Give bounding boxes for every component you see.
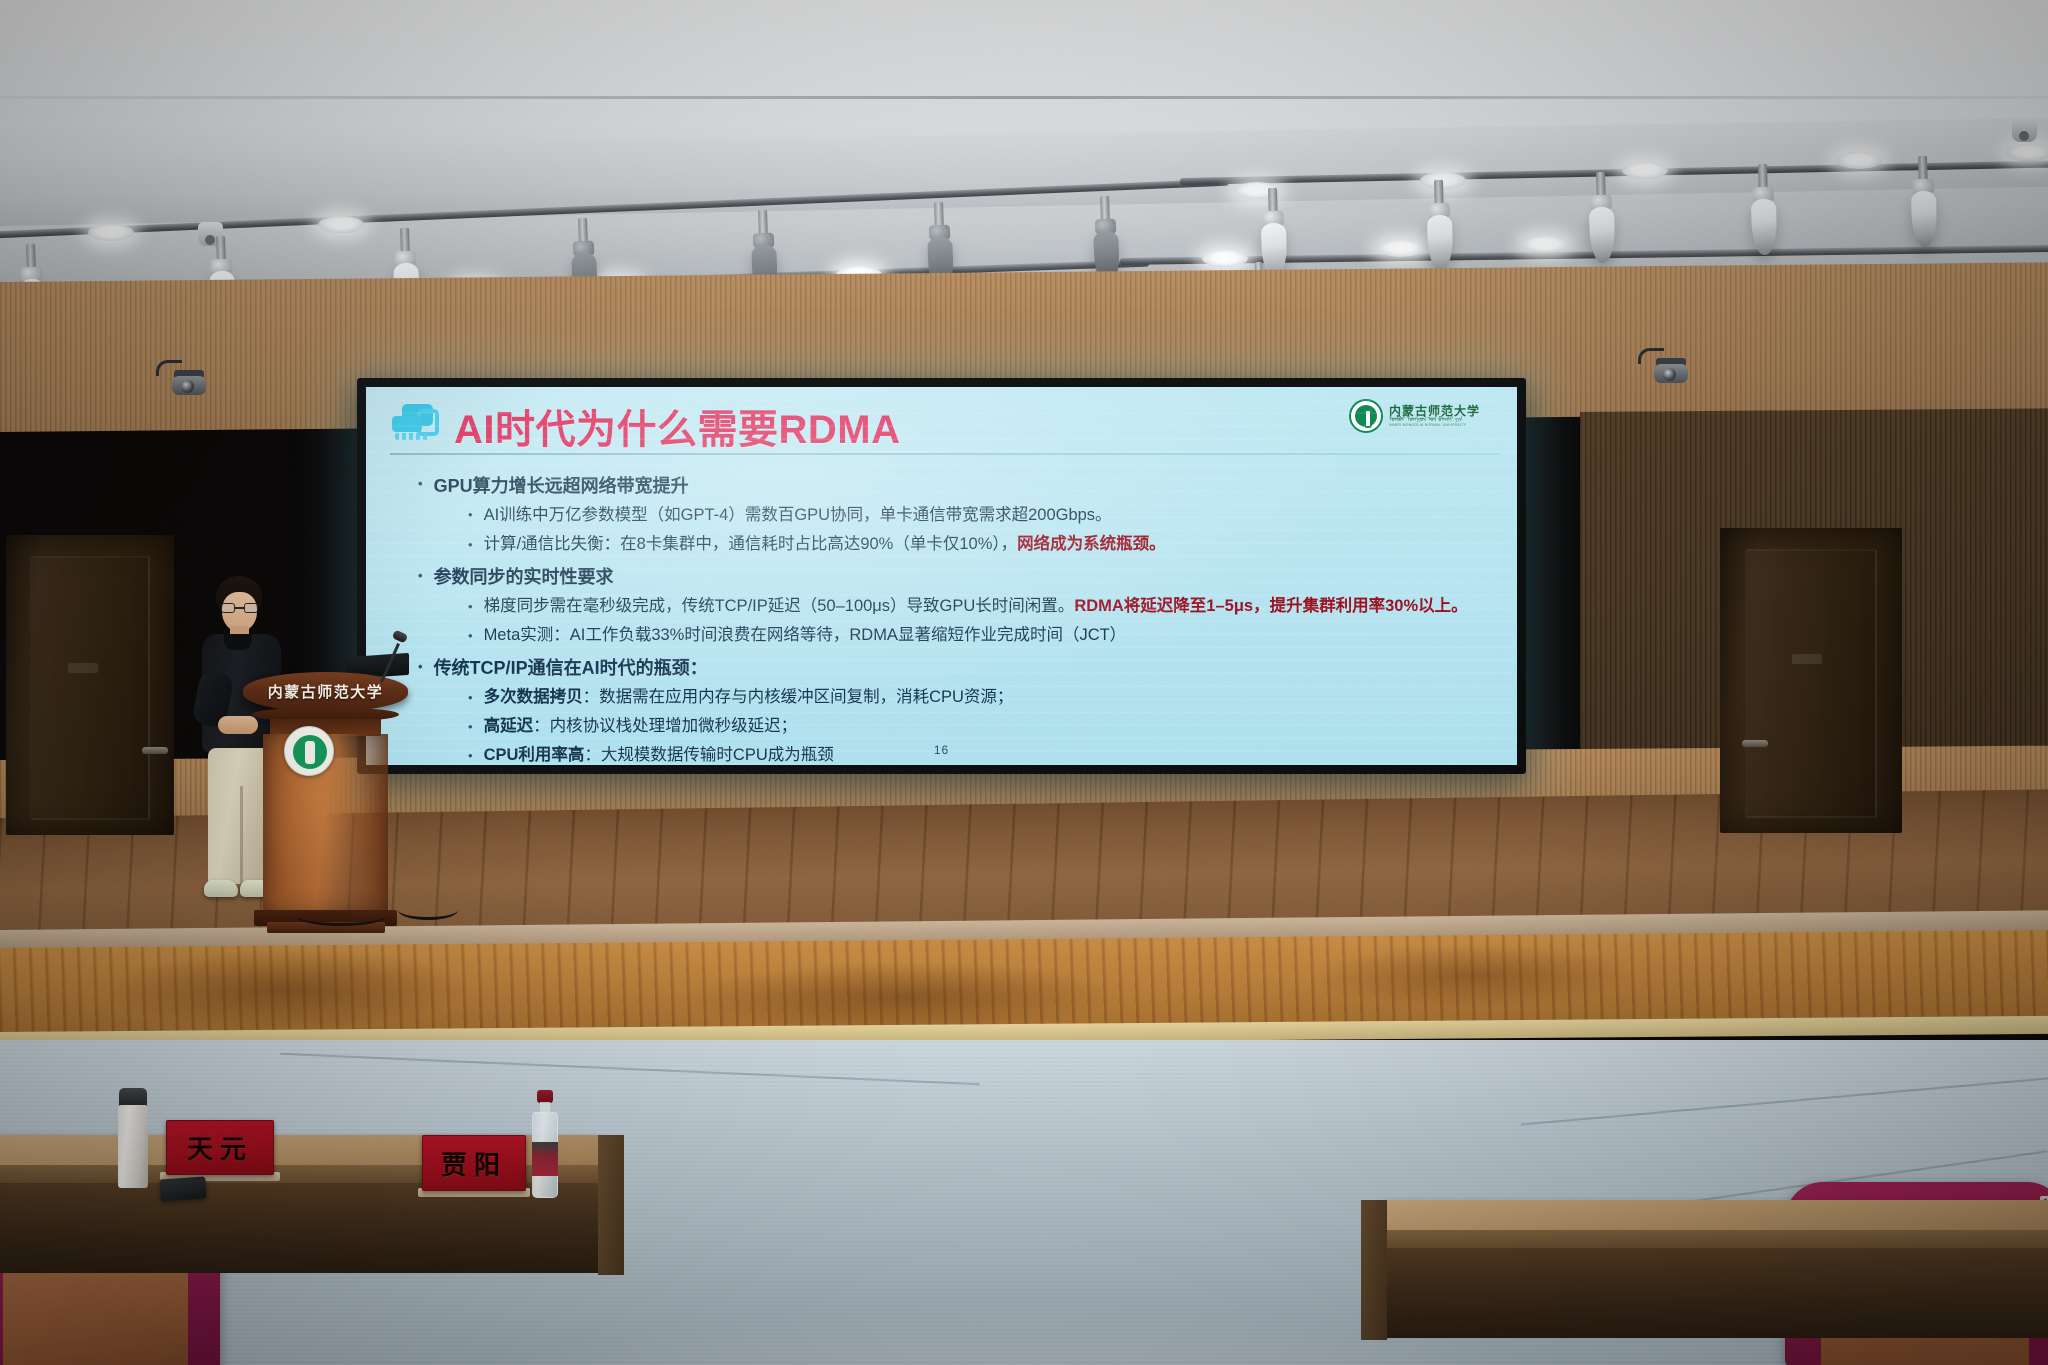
slide-bullet-item: •高延迟：内核协议栈处理增加微秒级延迟； [468, 714, 1495, 738]
bullet-dot-icon: • [468, 508, 473, 521]
slide-bullet-text: 多次数据拷贝：数据需在应用内存与内核缓冲区间复制，消耗CPU资源； [484, 685, 1014, 709]
slide-text-run: AI训练中万亿参数模型（如GPT-4）需数百GPU协同，单卡通信带宽需求超200… [484, 506, 1112, 524]
door-handle-icon[interactable] [142, 747, 168, 754]
ceiling-sensor-icon [2012, 118, 2037, 142]
slide-bullet-text: 计算/通信比失衡：在8卡集群中，通信耗时占比高达90%（单卡仅10%），网络成为… [484, 532, 1166, 556]
slide-bullet-item: •梯度同步需在毫秒级完成，传统TCP/IP延迟（50–100μs）导致GPU长时… [468, 594, 1495, 618]
slide-section-heading: •参数同步的实时性要求 [418, 563, 1495, 589]
slide-text-run: 多次数据拷贝 [484, 688, 583, 706]
downlight-icon [1522, 236, 1568, 253]
name-placard-right-text: 贾阳 [441, 1145, 507, 1182]
ptz-camera-icon [172, 370, 206, 400]
slide-bullet-text: 高延迟：内核协议栈处理增加微秒级延迟； [484, 714, 798, 738]
slide-text-run: 网络成为系统瓶颈。 [1017, 535, 1166, 553]
name-placard-left: 天元 [166, 1120, 274, 1175]
bullet-dot-icon: • [418, 660, 423, 673]
slide-section-heading: •GPU算力增长远超网络带宽提升 [418, 472, 1495, 498]
university-seal-icon [1349, 399, 1383, 433]
left-door[interactable] [6, 535, 174, 835]
name-placard-right: 贾阳 [422, 1135, 526, 1191]
podium-brand-text: 内蒙古师范大学 [243, 681, 408, 702]
downlight-icon [1378, 240, 1424, 257]
downlight-icon [88, 224, 134, 241]
name-placard-left-text: 天元 [187, 1129, 253, 1166]
bullet-dot-icon: • [418, 477, 423, 490]
slide-page-number: 16 [366, 743, 1517, 757]
slide-section-heading-text: 参数同步的实时性要求 [434, 563, 614, 589]
slide-bullet-item: •AI训练中万亿参数模型（如GPT-4）需数百GPU协同，单卡通信带宽需求超20… [468, 503, 1495, 527]
slide-bullet-item: •Meta实测：AI工作负载33%时间浪费在网络等待，RDMA显著缩短作业完成时… [468, 623, 1495, 647]
slide-section-heading-text: 传统TCP/IP通信在AI时代的瓶颈： [434, 654, 708, 680]
ceiling-seam [0, 96, 2048, 99]
presenter-collar [224, 634, 252, 650]
phone [159, 1176, 206, 1201]
bullet-dot-icon: • [468, 720, 473, 733]
bullet-dot-icon: • [468, 600, 473, 613]
thermos-bottle [118, 1088, 148, 1188]
slide-text-run: ：内核协议栈处理增加微秒级延迟； [533, 717, 797, 735]
right-door[interactable] [1720, 528, 1902, 833]
audience-desk-right [1385, 1200, 2048, 1340]
university-name-en: INNER MONGOLIA NORMAL UNIVERSITY [1389, 424, 1480, 428]
slide-text-run: RDMA将延迟降至1–5μs，提升集群利用率30%以上。 [1074, 597, 1467, 615]
bullet-dot-icon: • [468, 629, 473, 642]
slide-bullet-text: AI训练中万亿参数模型（如GPT-4）需数百GPU协同，单卡通信带宽需求超200… [484, 503, 1112, 527]
title-divider [390, 453, 1500, 455]
slide-bullet-item: •计算/通信比失衡：在8卡集群中，通信耗时占比高达90%（单卡仅10%），网络成… [468, 532, 1495, 556]
slide-bullet-item: •多次数据拷贝：数据需在应用内存与内核缓冲区间复制，消耗CPU资源； [468, 685, 1495, 709]
ptz-camera-icon [1654, 358, 1688, 388]
slide-text-run: Meta实测：AI工作负载33%时间浪费在网络等待，RDMA显著缩短作业完成时间… [484, 626, 1127, 644]
downlight-icon [1836, 152, 1882, 169]
downlight-icon [1202, 250, 1248, 267]
bullet-dot-icon: • [418, 569, 423, 582]
university-name-cn: 内蒙古师范大学 [1389, 405, 1480, 418]
slide-bullet-text: 梯度同步需在毫秒级完成，传统TCP/IP延迟（50–100μs）导致GPU长时间… [484, 594, 1468, 618]
presenter-shoe-left [204, 880, 238, 897]
downlight-icon [1420, 172, 1466, 189]
door-handle-icon[interactable] [1742, 740, 1768, 747]
slide-bullet-list: •GPU算力增长远超网络带宽提升•AI训练中万亿参数模型（如GPT-4）需数百G… [396, 465, 1495, 765]
downlight-icon [1622, 162, 1668, 179]
slide-text-run: 高延迟 [484, 717, 534, 735]
door-sign [1792, 654, 1822, 664]
downlight-icon [318, 216, 364, 233]
slide-logo-icon [390, 401, 442, 449]
slide-text-run: 计算/通信比失衡：在8卡集群中，通信耗时占比高达90%（单卡仅10%）， [484, 535, 1018, 553]
slide-section-heading-text: GPU算力增长远超网络带宽提升 [434, 472, 689, 498]
slide-content: AI时代为什么需要RDMA 内蒙古师范大学 ᠦᠪᠦᠷ ᠮᠣᠩᠭᠣᠯ ᠤᠨ ᠪᠠᠭ… [366, 387, 1517, 765]
floor-cable [296, 906, 386, 926]
slide-bullet-text: Meta实测：AI工作负载33%时间浪费在网络等待，RDMA显著缩短作业完成时间… [484, 623, 1127, 647]
university-logo: 内蒙古师范大学 ᠦᠪᠦᠷ ᠮᠣᠩᠭᠣᠯ ᠤᠨ ᠪᠠᠭᠰᠢ ᠶᠢᠨ INNER M… [1349, 397, 1499, 435]
slide-title: AI时代为什么需要RDMA [454, 397, 900, 455]
floor-cable [398, 900, 458, 920]
podium-seal-icon [284, 726, 334, 776]
bullet-dot-icon: • [468, 538, 473, 551]
bullet-dot-icon: • [468, 691, 473, 704]
podium: 内蒙古师范大学 [243, 672, 408, 937]
door-sign [68, 663, 98, 673]
glasses-icon [221, 603, 258, 613]
slide-section-heading: •传统TCP/IP通信在AI时代的瓶颈： [418, 654, 1495, 680]
presentation-screen: AI时代为什么需要RDMA 内蒙古师范大学 ᠦᠪᠦᠷ ᠮᠣᠩᠭᠣᠯ ᠤᠨ ᠪᠠᠭ… [357, 378, 1526, 774]
water-bottle [532, 1090, 558, 1198]
lecture-hall-scene: AI时代为什么需要RDMA 内蒙古师范大学 ᠦᠪᠦᠷ ᠮᠣᠩᠭᠣᠯ ᠤᠨ ᠪᠠᠭ… [0, 0, 2048, 1365]
downlight-icon [2006, 144, 2048, 161]
slide-text-run: ：数据需在应用内存与内核缓冲区间复制，消耗CPU资源； [583, 688, 1014, 706]
slide-text-run: 梯度同步需在毫秒级完成，传统TCP/IP延迟（50–100μs）导致GPU长时间… [484, 597, 1075, 615]
